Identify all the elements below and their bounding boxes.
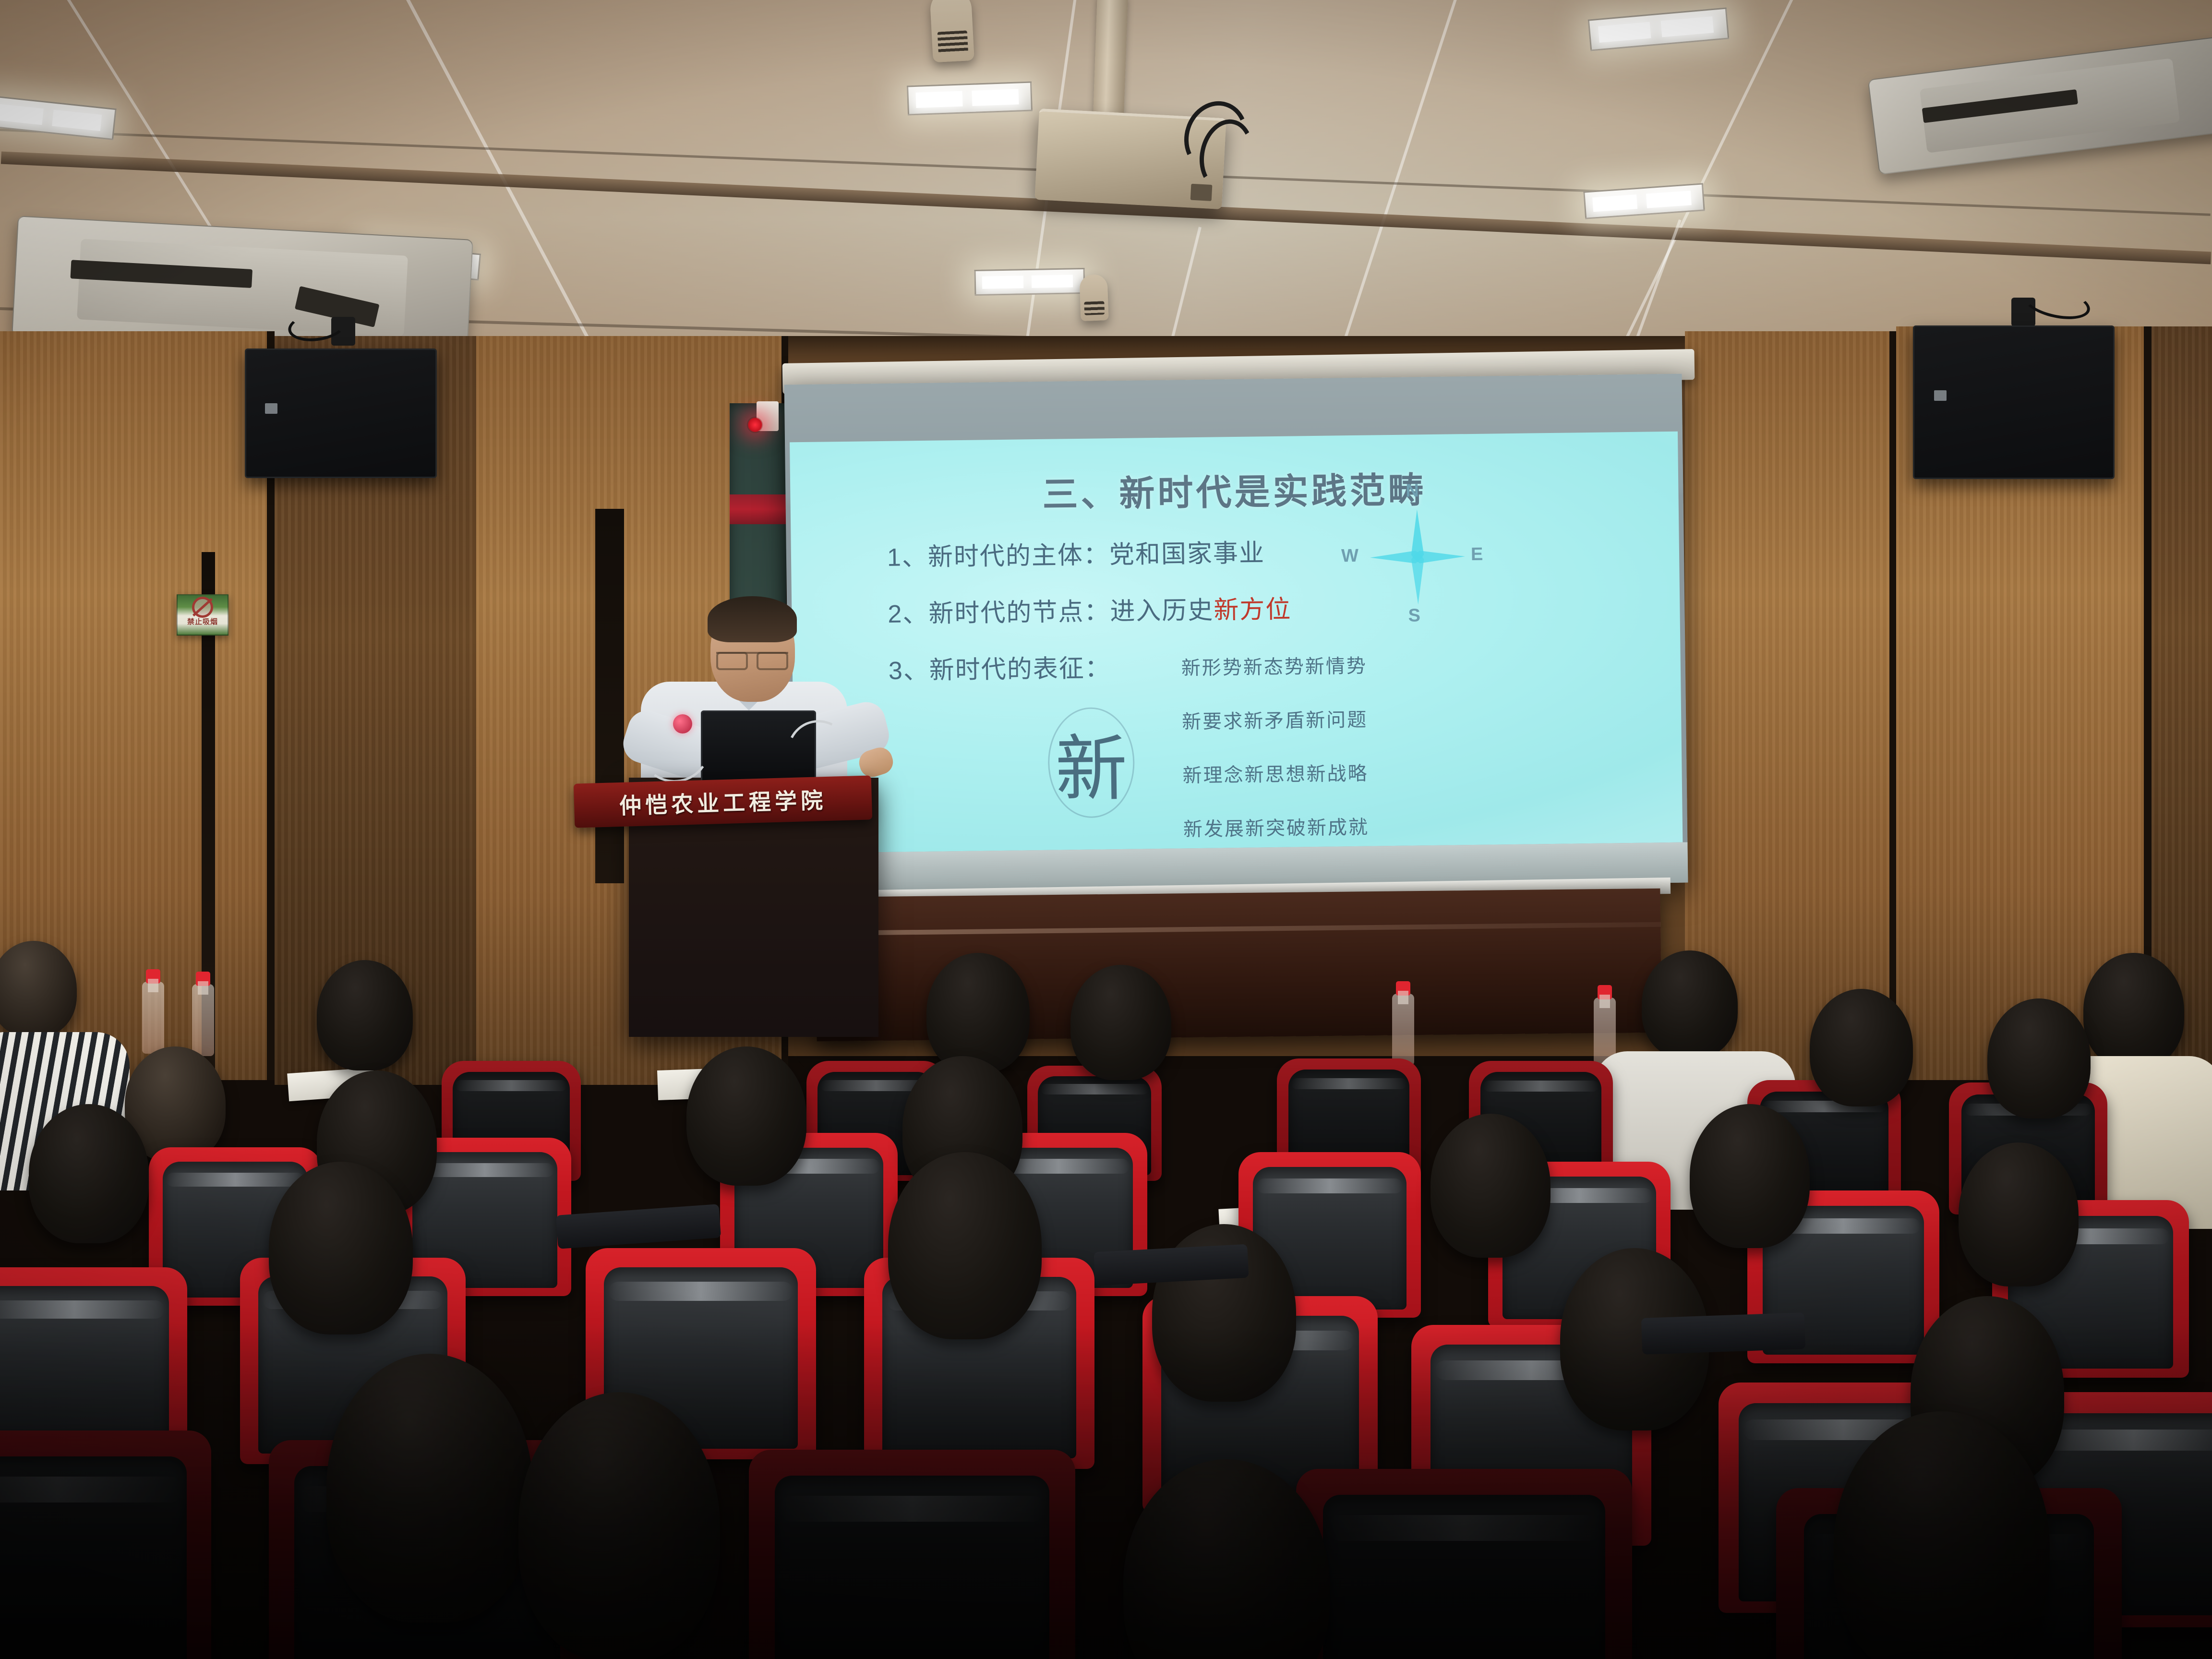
presenter-glasses (716, 652, 788, 666)
red-indicator-led (747, 417, 763, 433)
slide-seal-stamp: 新 (1047, 707, 1135, 818)
water-bottle (192, 984, 214, 1056)
bullet-label: 新时代的表征： (929, 654, 1111, 685)
slide-subline-2: 新要求新矛盾新问题 (1182, 704, 1368, 734)
audience-head (1810, 989, 1913, 1106)
ceiling-light (974, 268, 1085, 296)
audience-head (29, 1104, 149, 1243)
microphone-head (673, 714, 692, 733)
audience-head (686, 1046, 806, 1186)
podium-nameplate: 仲恺农业工程学院 (574, 775, 872, 828)
seal-character: 新 (1055, 710, 1128, 815)
audience-head (1987, 998, 2091, 1118)
smoke-detector (1079, 274, 1108, 321)
no-smoking-sign: 禁止吸烟 (177, 594, 228, 636)
audience-head (1642, 950, 1738, 1058)
venue-name-text: 仲恺农业工程学院 (619, 783, 827, 820)
projection-screen: 三、新时代是实践范畴 1、新时代的主体：党和国家事业 2、新时代的节点：进入历史… (784, 374, 1688, 894)
slide-bullet-3: 3、新时代的表征： (888, 648, 1111, 686)
bullet-number: 3、 (889, 657, 930, 685)
audience-head (888, 1152, 1042, 1339)
bullet-value: 党和国家事业 (1109, 539, 1265, 569)
smoke-detector (929, 0, 974, 62)
bullet-highlight: 新方位 (1214, 596, 1292, 625)
compass-label-west: W (1341, 546, 1358, 566)
audience-head (1070, 965, 1171, 1080)
compass-label-south: S (1408, 605, 1420, 626)
no-smoking-label: 禁止吸烟 (178, 616, 228, 626)
water-bottle (142, 982, 164, 1054)
seat-armrest (1641, 1312, 1805, 1355)
audience-head (926, 953, 1030, 1073)
compass-label-east: E (1471, 544, 1483, 565)
slide-subline-3: 新理念新思想新战略 (1182, 758, 1369, 788)
bullet-value: 进入历史 (1110, 597, 1214, 626)
slide-subline-1: 新形势新态势新情势 (1181, 650, 1367, 681)
slide-surface: 三、新时代是实践范畴 1、新时代的主体：党和国家事业 2、新时代的节点：进入历史… (790, 432, 1683, 854)
auditorium-seat[interactable] (1296, 1469, 1632, 1659)
bullet-number: 2、 (888, 600, 929, 628)
ceiling (0, 0, 2212, 365)
auditorium-seat[interactable] (749, 1450, 1075, 1659)
bullet-label: 新时代的节点： (928, 598, 1110, 628)
audience-head (269, 1162, 413, 1334)
seat-armrest (556, 1204, 721, 1249)
wall-panel-seam (1889, 331, 1896, 1080)
bullet-number: 1、 (887, 543, 928, 572)
bullet-label: 新时代的主体： (928, 541, 1110, 571)
audience-head (1431, 1114, 1551, 1258)
auditorium-seat[interactable] (0, 1431, 211, 1659)
audience-head (326, 1354, 533, 1623)
water-bottle (1392, 994, 1414, 1066)
audience-head (518, 1392, 720, 1659)
pilaster-red-band (730, 494, 786, 524)
audience-head (1959, 1142, 2079, 1286)
wall-speaker (245, 349, 437, 478)
audience-head (1690, 1104, 1810, 1248)
audience-head (317, 960, 413, 1070)
lecture-hall-photo: 禁止吸烟 三、新时代是实践范畴 1、新时代的主体：党和国家事业 2、新时代的节点… (0, 0, 2212, 1659)
slide-title: 三、新时代是实践范畴 (790, 458, 1679, 521)
wall-speaker (1913, 325, 2115, 479)
slide-bullet-1: 1、新时代的主体：党和国家事业 (887, 532, 1265, 573)
presenter-hair (708, 596, 797, 642)
slide-subline-4: 新发展新突破新成就 (1183, 812, 1370, 842)
compass-rose-icon: N E S W (1337, 477, 1498, 637)
slide-bullet-2: 2、新时代的节点：进入历史新方位 (888, 589, 1292, 630)
compass-label-north: N (1406, 481, 1419, 501)
audience-head (2083, 953, 2184, 1068)
ceiling-light (907, 81, 1033, 115)
